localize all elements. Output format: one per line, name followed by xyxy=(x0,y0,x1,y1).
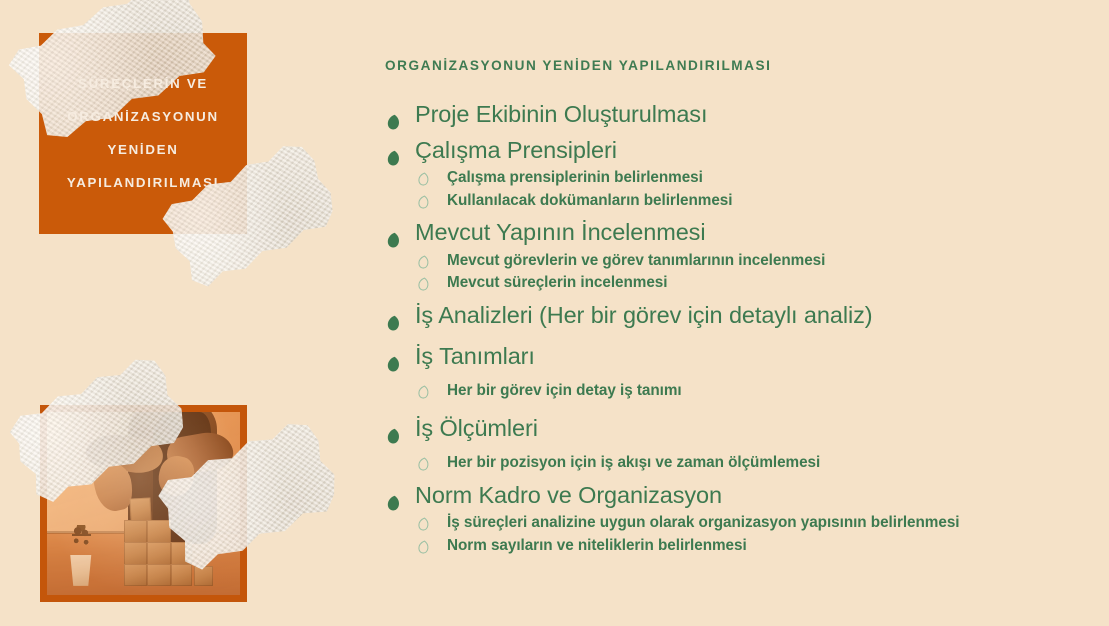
outline-item-label: Mevcut Yapının İncelenmesi xyxy=(415,219,705,245)
outline-item-level1[interactable]: Norm Kadro ve Organizasyon xyxy=(385,480,1085,511)
outline-sublist: Mevcut görevlerin ve görev tanımlarının … xyxy=(385,250,1085,295)
outline-subitem-label: Norm sayıların ve niteliklerin belirlenm… xyxy=(447,537,747,554)
outline-sublist: Çalışma prensiplerinin belirlenmesiKulla… xyxy=(385,167,1085,212)
outline-subitem-label: Kullanılacak dokümanların belirlenmesi xyxy=(447,192,732,209)
outline-subitem-label: Çalışma prensiplerinin belirlenmesi xyxy=(447,169,703,186)
outline-sublist: İş süreçleri analizine uygun olarak orga… xyxy=(385,512,1085,557)
outline-item-level1[interactable]: Mevcut Yapının İncelenmesi xyxy=(385,217,1085,248)
outline-item-level1[interactable]: Çalışma Prensipleri xyxy=(385,135,1085,166)
leaf-bullet-icon xyxy=(387,308,400,324)
content-column: ORGANİZASYONUN YENİDEN YAPILANDIRILMASI … xyxy=(385,58,1085,557)
outline-subitem-label: Her bir pozisyon için iş akışı ve zaman … xyxy=(447,454,820,471)
leaf-bullet-icon xyxy=(387,225,400,241)
leaf-bullet-icon xyxy=(387,143,400,159)
outline-item-level2[interactable]: Her bir görev için detay iş tanımı xyxy=(385,380,1085,402)
leaf-bullet-icon xyxy=(387,107,400,123)
section-heading: ORGANİZASYONUN YENİDEN YAPILANDIRILMASI xyxy=(385,58,1085,74)
outline-item-level1[interactable]: İş Analizleri (Her bir görev için detayl… xyxy=(385,300,1085,331)
outline-item-level2[interactable]: Kullanılacak dokümanların belirlenmesi xyxy=(385,190,1085,212)
leaf-outline-bullet-icon xyxy=(418,516,429,530)
photo-frame xyxy=(40,405,247,602)
leaf-bullet-icon xyxy=(387,421,400,437)
photo-soft-light xyxy=(47,412,240,595)
leaf-outline-bullet-icon xyxy=(418,384,429,398)
outline-item-level2[interactable]: Mevcut görevlerin ve görev tanımlarının … xyxy=(385,250,1085,272)
list-spacer xyxy=(385,402,1085,413)
outline-sublist: Her bir görev için detay iş tanımı xyxy=(385,380,1085,402)
leaf-outline-bullet-icon xyxy=(418,539,429,553)
leaf-outline-bullet-icon xyxy=(418,276,429,290)
leaf-outline-bullet-icon xyxy=(418,171,429,185)
outline-item-label: İş Analizleri (Her bir görev için detayl… xyxy=(415,302,872,328)
title-line-4: YAPILANDIRILMASI xyxy=(67,176,219,190)
outline-item-label: İş Tanımları xyxy=(415,343,535,369)
leaf-bullet-icon xyxy=(387,488,400,504)
title-card: SÜREÇLERİN VE ORGANİZASYONUN YENİDEN YAP… xyxy=(39,33,247,234)
title-card-text: SÜREÇLERİN VE ORGANİZASYONUN YENİDEN YAP… xyxy=(39,33,247,234)
outline-item-level2[interactable]: Çalışma prensiplerinin belirlenmesi xyxy=(385,167,1085,189)
outline-item-level2[interactable]: Norm sayıların ve niteliklerin belirlenm… xyxy=(385,535,1085,557)
outline-item-label: İş Ölçümleri xyxy=(415,415,538,441)
outline-item-label: Çalışma Prensipleri xyxy=(415,137,617,163)
outline-subitem-label: Her bir görev için detay iş tanımı xyxy=(447,382,682,399)
photo-wooden-blocks xyxy=(47,412,240,595)
outline-item-label: Norm Kadro ve Organizasyon xyxy=(415,482,722,508)
outline-item-level2[interactable]: Her bir pozisyon için iş akışı ve zaman … xyxy=(385,452,1085,474)
outline-item-level1[interactable]: Proje Ekibinin Oluşturulması xyxy=(385,99,1085,130)
title-line-2: ORGANİZASYONUN xyxy=(67,110,219,124)
title-line-3: YENİDEN xyxy=(107,143,178,157)
leaf-outline-bullet-icon xyxy=(418,456,429,470)
slide-canvas: SÜREÇLERİN VE ORGANİZASYONUN YENİDEN YAP… xyxy=(0,0,1109,626)
outline-subitem-label: Mevcut görevlerin ve görev tanımlarının … xyxy=(447,252,825,269)
leaf-bullet-icon xyxy=(387,349,400,365)
outline-subitem-label: Mevcut süreçlerin incelenmesi xyxy=(447,274,667,291)
outline-item-level1[interactable]: İş Tanımları xyxy=(385,341,1085,372)
leaf-outline-bullet-icon xyxy=(418,254,429,268)
outline-item-level2[interactable]: İş süreçleri analizine uygun olarak orga… xyxy=(385,512,1085,534)
outline-subitem-label: İş süreçleri analizine uygun olarak orga… xyxy=(447,514,959,531)
outline-item-level1[interactable]: İş Ölçümleri xyxy=(385,413,1085,444)
outline-list: Proje Ekibinin OluşturulmasıÇalışma Pren… xyxy=(385,99,1085,557)
leaf-outline-bullet-icon xyxy=(418,194,429,208)
outline-item-level2[interactable]: Mevcut süreçlerin incelenmesi xyxy=(385,272,1085,294)
sublist-spacer xyxy=(385,372,1085,380)
outline-item-label: Proje Ekibinin Oluşturulması xyxy=(415,101,707,127)
title-line-1: SÜREÇLERİN VE xyxy=(78,77,208,91)
list-spacer xyxy=(385,330,1085,341)
outline-sublist: Her bir pozisyon için iş akışı ve zaman … xyxy=(385,452,1085,474)
sublist-spacer xyxy=(385,444,1085,452)
